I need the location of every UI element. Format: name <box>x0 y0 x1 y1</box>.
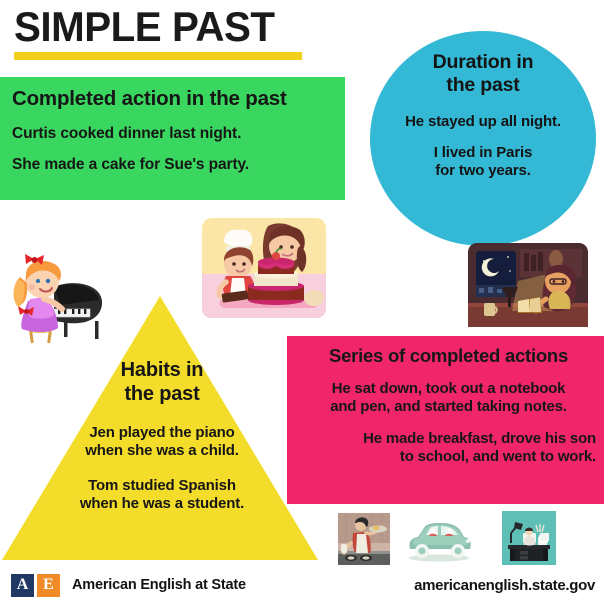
section-series-of-completed-actions: Series of completed actions He sat down,… <box>287 336 604 504</box>
example-habits-1-line1: Jen played the piano <box>44 424 280 442</box>
section-heading-completed-action: Completed action in the past <box>12 87 335 111</box>
section-heading-duration-line2: the past <box>370 74 596 97</box>
logo-letter-a: A <box>11 574 34 597</box>
section-completed-action-in-the-past: Completed action in the past Curtis cook… <box>0 77 345 200</box>
section-heading-series-of-actions: Series of completed actions <box>301 345 596 367</box>
example-habits-1: Jen played the piano when she was a chil… <box>44 424 280 461</box>
example-habits-2: Tom studied Spanish when he was a studen… <box>44 477 280 514</box>
american-english-logo: A E <box>11 574 60 597</box>
example-habits-2-line1: Tom studied Spanish <box>44 477 280 495</box>
section-heading-habits: Habits in the past <box>44 358 280 406</box>
person-at-desk-illustration <box>502 511 556 565</box>
example-duration-2: I lived in Paris for two years. <box>370 144 596 180</box>
example-series-1-line1: He sat down, took out a notebook <box>301 380 596 398</box>
chef-cooking-breakfast-illustration <box>338 513 390 565</box>
example-completed-action-1: Curtis cooked dinner last night. <box>12 125 335 143</box>
title-block: SIMPLE PAST <box>14 6 344 60</box>
footer-website-url: americanenglish.state.gov <box>414 577 595 594</box>
logo-letter-e: E <box>37 574 60 597</box>
page-title: SIMPLE PAST <box>14 6 331 48</box>
section-duration-in-the-past: Duration in the past He stayed up all ni… <box>370 31 596 246</box>
example-duration-1: He stayed up all night. <box>370 113 596 131</box>
example-series-2-line1: He made breakfast, drove his son <box>301 430 596 448</box>
section-heading-duration-line1: Duration in <box>370 51 596 74</box>
example-series-2-line2: to school, and went to work. <box>301 448 596 466</box>
example-duration-2-line1: I lived in Paris <box>370 144 596 162</box>
example-completed-action-2: She made a cake for Sue's party. <box>12 156 335 174</box>
footer-bar: A E American English at State americanen… <box>0 566 604 604</box>
section-heading-duration: Duration in the past <box>370 51 596 97</box>
section-heading-habits-line1: Habits in <box>44 358 280 382</box>
girl-playing-piano-illustration <box>4 243 108 347</box>
example-series-2: He made breakfast, drove his son to scho… <box>301 430 596 467</box>
footer-organization-name: American English at State <box>72 577 246 593</box>
example-series-1: He sat down, took out a notebook and pen… <box>301 380 596 417</box>
example-habits-1-line2: when she was a child. <box>44 442 280 460</box>
section-heading-habits-line2: the past <box>44 382 280 406</box>
example-series-1-line2: and pen, and started taking notes. <box>301 398 596 416</box>
person-reading-at-night-illustration <box>466 241 590 329</box>
section-habits-in-the-past: Habits in the past Jen played the piano … <box>44 358 280 529</box>
example-duration-2-line2: for two years. <box>370 162 596 180</box>
example-habits-2-line2: when he was a student. <box>44 495 280 513</box>
title-underline-rule <box>14 52 302 60</box>
mother-child-baking-cake-illustration <box>196 216 332 322</box>
green-car-illustration <box>404 519 474 563</box>
